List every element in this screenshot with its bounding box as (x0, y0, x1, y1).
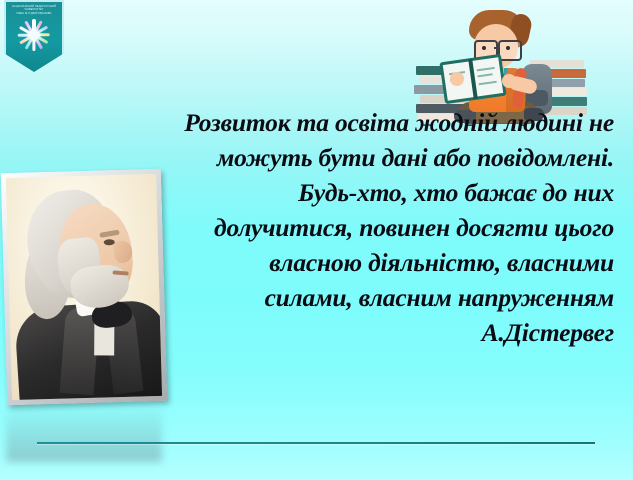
quote-line-3: Будь-хто, хто бажає до них (122, 175, 614, 210)
eyeglasses-bridge (494, 47, 499, 49)
eye-left (482, 46, 486, 50)
quote-text-block: Розвиток та освіта жодній людині не можу… (122, 105, 614, 350)
hand-right (502, 74, 516, 88)
slide-canvas: НАЦІОНАЛЬНИЙ ПЕДАГОГІЧНИЙ УНІВЕРСИТЕТ ІМ… (0, 0, 633, 480)
portrait-reflection (6, 402, 162, 462)
bottom-divider-line (37, 442, 595, 444)
university-emblem: НАЦІОНАЛЬНИЙ ПЕДАГОГІЧНИЙ УНІВЕРСИТЕТ ІМ… (4, 0, 64, 72)
eyeglasses-lens-right (498, 40, 522, 61)
boy-reading-illustration (414, 2, 586, 122)
quote-line-2: можуть бути дані або повідомлені. (122, 140, 614, 175)
emblem-caption-text: НАЦІОНАЛЬНИЙ ПЕДАГОГІЧНИЙ УНІВЕРСИТЕТ ІМ… (8, 5, 60, 15)
quote-line-1: Розвиток та освіта жодній людині не (122, 105, 614, 140)
portrait-image (1, 169, 167, 405)
portrait-photo (6, 174, 162, 400)
hand-left (450, 72, 464, 86)
quote-line-4: долучитися, повинен досягти цього (122, 210, 614, 245)
quote-line-5: власною діяльністю, власними (122, 245, 614, 280)
quote-line-6: силами, власним напруженням (122, 280, 614, 315)
eye-right (506, 46, 510, 50)
emblem-rosette-icon (17, 18, 51, 52)
quote-author: А.Дістервег (122, 315, 614, 350)
